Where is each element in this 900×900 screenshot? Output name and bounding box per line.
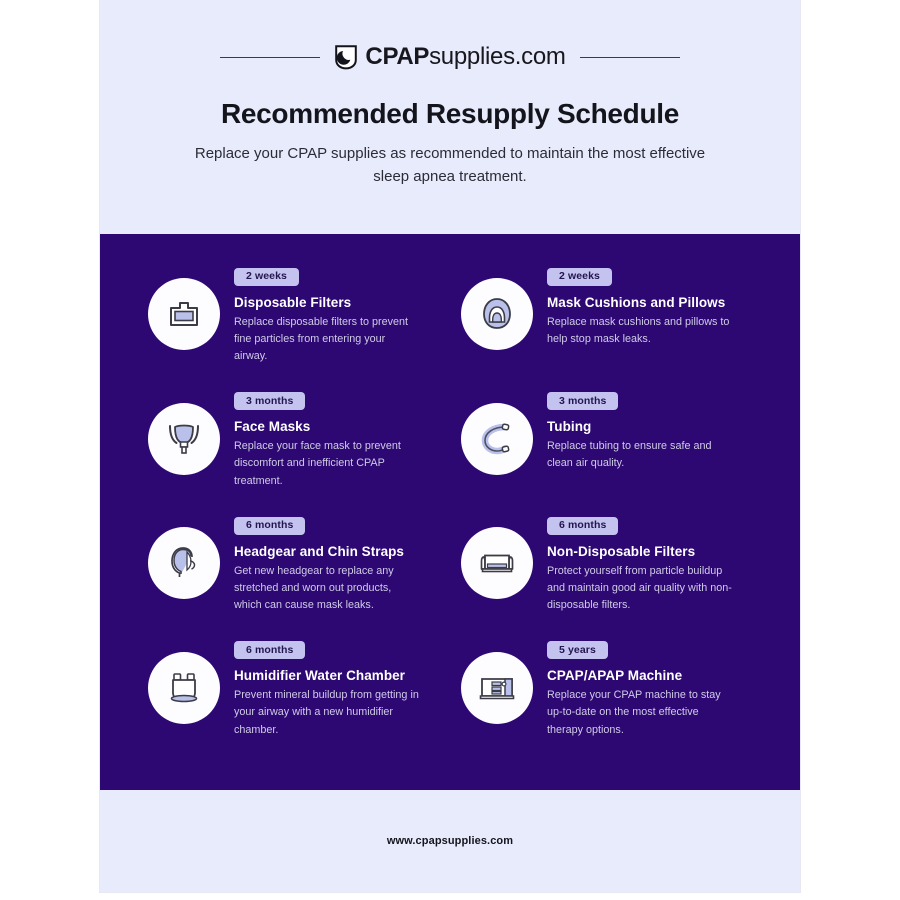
- schedule-item-title: Humidifier Water Chamber: [234, 668, 420, 683]
- status-badge: 6 months: [547, 517, 618, 535]
- schedule-item: 5 years CPAP/APAP Machine Replace your C…: [461, 638, 752, 763]
- brand-name: CPAPsupplies.com: [365, 45, 565, 69]
- schedule-item-body: 2 weeks Disposable Filters Replace dispo…: [234, 264, 420, 366]
- schedule-item-body: 5 years CPAP/APAP Machine Replace your C…: [547, 638, 733, 740]
- schedule-item-title: CPAP/APAP Machine: [547, 668, 733, 683]
- page-title: Recommended Resupply Schedule: [100, 98, 800, 130]
- moon-shield-icon: [334, 44, 358, 70]
- schedule-item: 3 months Tubing Replace tubing to ensure…: [461, 389, 752, 514]
- cpap-machine-icon: [474, 665, 520, 711]
- schedule-item-body: 6 months Humidifier Water Chamber Preven…: [234, 638, 420, 740]
- icon-badge: [148, 278, 220, 350]
- schedule-item-desc: Replace your face mask to prevent discom…: [234, 438, 420, 490]
- status-badge: 2 weeks: [234, 268, 299, 286]
- schedule-item-title: Face Masks: [234, 419, 420, 434]
- schedule-item-desc: Replace tubing to ensure safe and clean …: [547, 438, 733, 473]
- footer: www.cpapsupplies.com: [100, 790, 800, 892]
- status-badge: 5 years: [547, 641, 608, 659]
- status-badge: 6 months: [234, 641, 305, 659]
- brand-name-bold: CPAP: [365, 43, 429, 70]
- schedule-item-desc: Replace your CPAP machine to stay up-to-…: [547, 687, 733, 739]
- icon-badge: [461, 652, 533, 724]
- schedule-item: 2 weeks Disposable Filters Replace dispo…: [148, 264, 439, 389]
- humidifier-chamber-icon: [161, 665, 207, 711]
- schedule-item-desc: Prevent mineral buildup from getting in …: [234, 687, 420, 739]
- header: CPAPsupplies.com Recommended Resupply Sc…: [100, 0, 800, 234]
- logo-row: CPAPsupplies.com: [100, 0, 800, 70]
- schedule-item: 6 months Headgear and Chin Straps Get ne…: [148, 513, 439, 638]
- schedule-item-title: Tubing: [547, 419, 733, 434]
- schedule-item: 6 months Humidifier Water Chamber Preven…: [148, 638, 439, 763]
- schedule-item-desc: Replace disposable filters to prevent fi…: [234, 314, 420, 366]
- mask-cushion-icon: [474, 291, 520, 337]
- schedule-item-title: Headgear and Chin Straps: [234, 544, 420, 559]
- icon-badge: [461, 278, 533, 350]
- schedule-item-body: 3 months Tubing Replace tubing to ensure…: [547, 389, 733, 473]
- schedule-grid: 2 weeks Disposable Filters Replace dispo…: [148, 264, 752, 762]
- schedule-item-body: 2 weeks Mask Cushions and Pillows Replac…: [547, 264, 733, 348]
- tubing-icon: [474, 416, 520, 462]
- headgear-icon: [161, 540, 207, 586]
- status-badge: 3 months: [547, 392, 618, 410]
- schedule-item-title: Disposable Filters: [234, 295, 420, 310]
- status-badge: 2 weeks: [547, 268, 612, 286]
- schedule-item: 3 months Face Masks Replace your face ma…: [148, 389, 439, 514]
- brand-name-regular: supplies.com: [429, 43, 565, 70]
- schedule-item-desc: Replace mask cushions and pillows to hel…: [547, 314, 733, 349]
- brand-logo: CPAPsupplies.com: [334, 44, 565, 70]
- non-disposable-filter-icon: [474, 540, 520, 586]
- status-badge: 6 months: [234, 517, 305, 535]
- icon-badge: [148, 403, 220, 475]
- schedule-section: 2 weeks Disposable Filters Replace dispo…: [100, 234, 800, 790]
- schedule-item-desc: Protect yourself from particle buildup a…: [547, 563, 733, 615]
- status-badge: 3 months: [234, 392, 305, 410]
- icon-badge: [461, 403, 533, 475]
- icon-badge: [461, 527, 533, 599]
- icon-badge: [148, 652, 220, 724]
- schedule-item-body: 3 months Face Masks Replace your face ma…: [234, 389, 420, 491]
- infographic-page: CPAPsupplies.com Recommended Resupply Sc…: [100, 0, 800, 892]
- footer-url: www.cpapsupplies.com: [387, 835, 513, 847]
- icon-badge: [148, 527, 220, 599]
- divider-left: [220, 57, 320, 58]
- page-subtitle: Replace your CPAP supplies as recommende…: [190, 142, 710, 189]
- schedule-item-title: Non-Disposable Filters: [547, 544, 733, 559]
- schedule-item-body: 6 months Non-Disposable Filters Protect …: [547, 513, 733, 615]
- schedule-item-desc: Get new headgear to replace any stretche…: [234, 563, 420, 615]
- schedule-item: 6 months Non-Disposable Filters Protect …: [461, 513, 752, 638]
- disposable-filter-icon: [161, 291, 207, 337]
- schedule-item-body: 6 months Headgear and Chin Straps Get ne…: [234, 513, 420, 615]
- schedule-item-title: Mask Cushions and Pillows: [547, 295, 733, 310]
- face-mask-icon: [161, 416, 207, 462]
- divider-right: [580, 57, 680, 58]
- schedule-item: 2 weeks Mask Cushions and Pillows Replac…: [461, 264, 752, 389]
